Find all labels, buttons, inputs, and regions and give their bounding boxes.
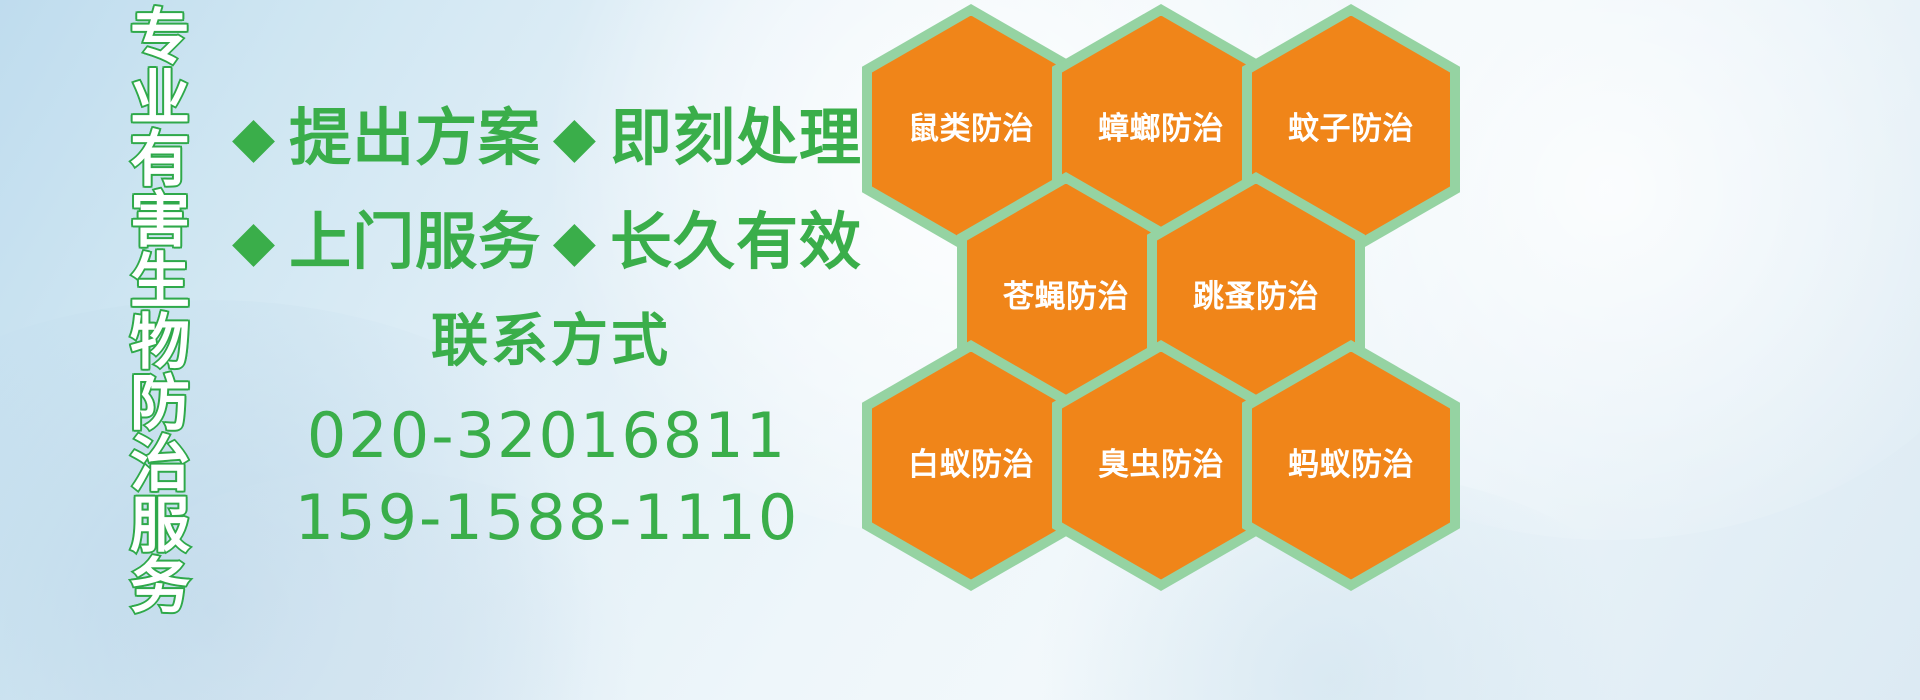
vertical-slogan-char: 服 [130, 496, 190, 557]
diamond-bullet-icon: ◆ [553, 214, 596, 270]
feature-label: 长久有效 [610, 211, 862, 273]
feature-row: ◆ 提出方案 ◆ 即刻处理 [232, 86, 862, 190]
hex-label: 蚊子防治 [1288, 114, 1414, 145]
vertical-slogan-char: 治 [130, 435, 190, 496]
hex-label: 鼠类防治 [908, 114, 1034, 145]
vertical-slogan-char: 业 [130, 69, 190, 130]
diamond-bullet-icon: ◆ [232, 214, 275, 270]
contact-phone-landline[interactable]: 020-32016811 [232, 395, 862, 477]
hex-label: 蚂蚁防治 [1288, 450, 1414, 481]
vertical-slogan-char: 生 [130, 252, 190, 313]
hex-inner: 白蚁防治 [872, 352, 1070, 580]
vertical-slogan-char: 务 [130, 557, 190, 618]
feature-row: ◆ 上门服务 ◆ 长久有效 [232, 190, 862, 294]
contact-block: 联系方式 020-32016811 159-1588-1110 [232, 310, 862, 558]
hex-label: 蟑螂防治 [1098, 114, 1224, 145]
feature-list: ◆ 提出方案 ◆ 即刻处理 ◆ 上门服务 ◆ 长久有效 [232, 86, 862, 294]
vertical-slogan-char: 有 [130, 130, 190, 191]
pest-control-service-banner: 专 业 有 害 生 物 防 治 服 务 ◆ 提出方案 ◆ 即刻处理 ◆ 上门服务… [0, 0, 1920, 700]
hex-label: 跳蚤防治 [1193, 282, 1319, 313]
hex-inner: 蚂蚁防治 [1252, 352, 1450, 580]
hex-inner: 臭虫防治 [1062, 352, 1260, 580]
contact-phone-mobile[interactable]: 159-1588-1110 [232, 477, 862, 559]
hex-label: 苍蝇防治 [1003, 282, 1129, 313]
vertical-slogan-char: 物 [130, 313, 190, 374]
feature-label: 提出方案 [289, 107, 541, 169]
vertical-slogan-char: 防 [130, 374, 190, 435]
feature-label: 即刻处理 [610, 107, 862, 169]
feature-label: 上门服务 [289, 211, 541, 273]
hex-label: 臭虫防治 [1098, 450, 1224, 481]
diamond-bullet-icon: ◆ [553, 110, 596, 166]
vertical-slogan-char: 害 [130, 191, 190, 252]
diamond-bullet-icon: ◆ [232, 110, 275, 166]
service-honeycomb-grid: 鼠类防治 蟑螂防治 蚊子防治 苍蝇防治 跳蚤防治 白蚁防治 [862, 4, 1462, 564]
contact-title: 联系方式 [240, 310, 862, 373]
vertical-slogan: 专 业 有 害 生 物 防 治 服 务 [108, 8, 212, 568]
hex-label: 白蚁防治 [908, 450, 1034, 481]
vertical-slogan-char: 专 [130, 8, 190, 69]
